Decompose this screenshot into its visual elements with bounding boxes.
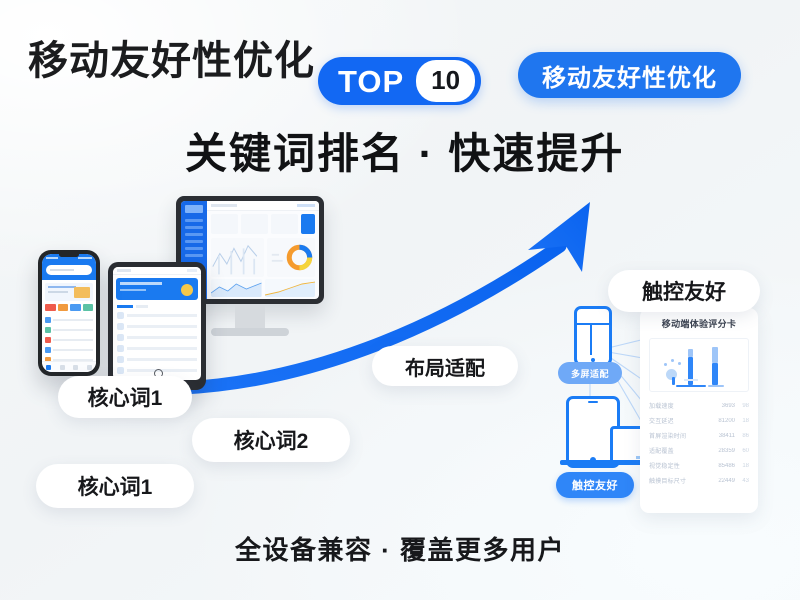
diagram-device-base bbox=[560, 460, 646, 465]
tag-badge-mobile-friendly: 移动友好性优化 bbox=[518, 52, 741, 98]
score-row-value: 38411 bbox=[711, 433, 735, 439]
score-row-score: 98 bbox=[735, 403, 749, 409]
score-row-name: 首屏渲染时间 bbox=[649, 431, 711, 440]
mobile-score-card: 移动端体验评分卡 加载速度 3693 98 交互延迟 81200 bbox=[640, 308, 758, 513]
score-row-score: 43 bbox=[735, 478, 749, 484]
pill-keyword-2: 核心词2 bbox=[192, 418, 350, 462]
score-row-score: 18 bbox=[735, 418, 749, 424]
score-row-score: 86 bbox=[735, 433, 749, 439]
list-item: 适配覆盖 28359 60 bbox=[640, 443, 758, 458]
pill-layout-adaptation: 布局适配 bbox=[372, 346, 518, 386]
score-row-value: 85486 bbox=[711, 463, 735, 469]
top-badge-number: 10 bbox=[416, 60, 475, 102]
score-row-name: 加载速度 bbox=[649, 401, 711, 410]
score-row-value: 22449 bbox=[711, 478, 735, 484]
phone-screen bbox=[42, 254, 96, 372]
pill-touch-friendly: 触控友好 bbox=[608, 270, 760, 312]
score-row-value: 28359 bbox=[711, 448, 735, 454]
score-card-chart bbox=[649, 338, 749, 392]
list-item: 加载速度 3693 98 bbox=[640, 398, 758, 413]
phone-notch bbox=[59, 252, 79, 257]
list-item: 首屏渲染时间 38411 86 bbox=[640, 428, 758, 443]
tablet-mockup bbox=[108, 262, 206, 390]
top-rank-badge: TOP 10 bbox=[318, 57, 481, 105]
page-title: 移动友好性优化 bbox=[28, 28, 315, 86]
score-row-value: 81200 bbox=[711, 418, 735, 424]
score-row-name: 触摸目标尺寸 bbox=[649, 476, 711, 485]
top-badge-word: TOP bbox=[338, 66, 404, 97]
monitor-stand bbox=[235, 304, 265, 328]
score-row-value: 3693 bbox=[711, 403, 735, 409]
tablet-screen bbox=[113, 267, 201, 380]
diagram-pill-touch: 触控友好 bbox=[556, 472, 634, 498]
score-row-score: 60 bbox=[735, 448, 749, 454]
score-row-name: 适配覆盖 bbox=[649, 446, 711, 455]
score-row-score: 18 bbox=[735, 463, 749, 469]
diagram-small-phone bbox=[574, 306, 612, 366]
list-item: 视觉稳定性 85486 18 bbox=[640, 458, 758, 473]
phone-mockup bbox=[38, 250, 100, 376]
score-row-name: 视觉稳定性 bbox=[649, 461, 711, 470]
score-card-title: 移动端体验评分卡 bbox=[640, 317, 758, 330]
list-item: 交互延迟 81200 18 bbox=[640, 413, 758, 428]
score-row-name: 交互延迟 bbox=[649, 416, 711, 425]
list-item: 触摸目标尺寸 22449 43 bbox=[640, 473, 758, 488]
pill-keyword-3: 核心词1 bbox=[36, 464, 194, 508]
footer-tagline: 全设备兼容 · 覆盖更多用户 bbox=[0, 530, 800, 567]
monitor-base bbox=[211, 328, 289, 336]
poster-canvas: 移动友好性优化 TOP 10 移动友好性优化 关键词排名 · 快速提升 bbox=[0, 0, 800, 600]
diagram-pill-multiscreen: 多屏适配 bbox=[558, 362, 622, 384]
score-card-list: 加载速度 3693 98 交互延迟 81200 18 首屏渲染时间 38411 … bbox=[640, 398, 758, 488]
pill-keyword-1: 核心词1 bbox=[58, 376, 192, 418]
